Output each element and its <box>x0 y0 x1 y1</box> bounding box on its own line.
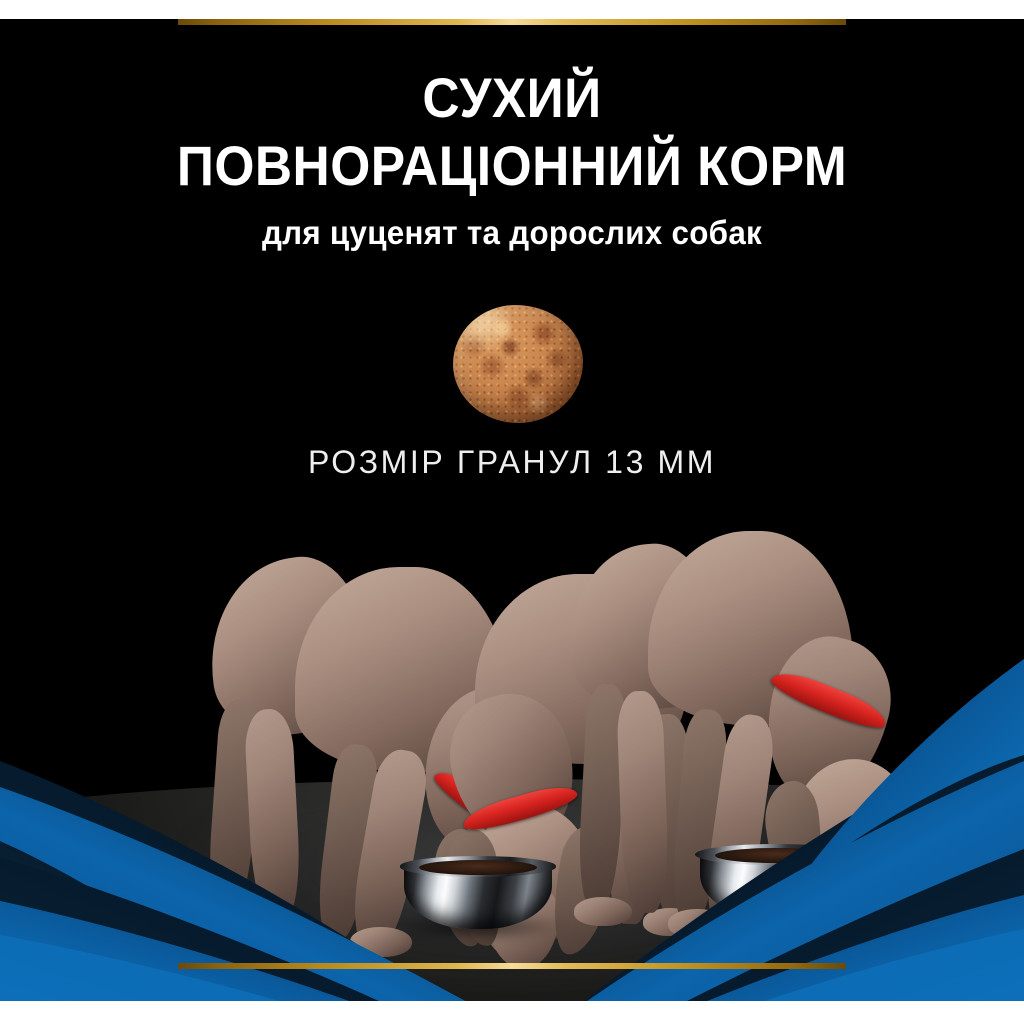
top-white-band <box>0 0 1024 19</box>
kibble-pellet-icon <box>453 305 583 423</box>
dog-left-hind-leg-near <box>243 708 302 922</box>
kibble-texture <box>453 305 583 423</box>
bowl-left-contents <box>419 860 537 875</box>
dog-left-paw-a <box>205 901 263 931</box>
gold-divider-bottom <box>178 963 846 969</box>
bowl-left <box>404 861 552 929</box>
dog-left-paw-c <box>290 935 348 963</box>
page-subtitle: для цуценят та дорослих собак <box>26 214 999 252</box>
dog-photo-scene <box>0 449 1024 1001</box>
dog-right-hind-leg-near <box>616 690 670 913</box>
page-title-line-1: СУХИЙ <box>41 69 983 128</box>
gold-divider-top <box>178 19 846 25</box>
kibble-body <box>453 305 583 423</box>
banner-stage: СУХИЙ ПОВНОРАЦІОННИЙ КОРМ для цуценят та… <box>0 19 1024 1001</box>
pellet-size-caption: РОЗМІР ГРАНУЛ 13 ММ <box>0 444 1024 481</box>
bowl-right <box>700 849 852 919</box>
bowl-right-contents <box>715 848 837 863</box>
bottom-white-band <box>0 1001 1024 1024</box>
product-banner: СУХИЙ ПОВНОРАЦІОННИЙ КОРМ для цуценят та… <box>0 0 1024 1024</box>
dog-right-paw-a <box>574 897 632 926</box>
page-title-line-2: ПОВНОРАЦІОННИЙ КОРМ <box>41 137 983 196</box>
